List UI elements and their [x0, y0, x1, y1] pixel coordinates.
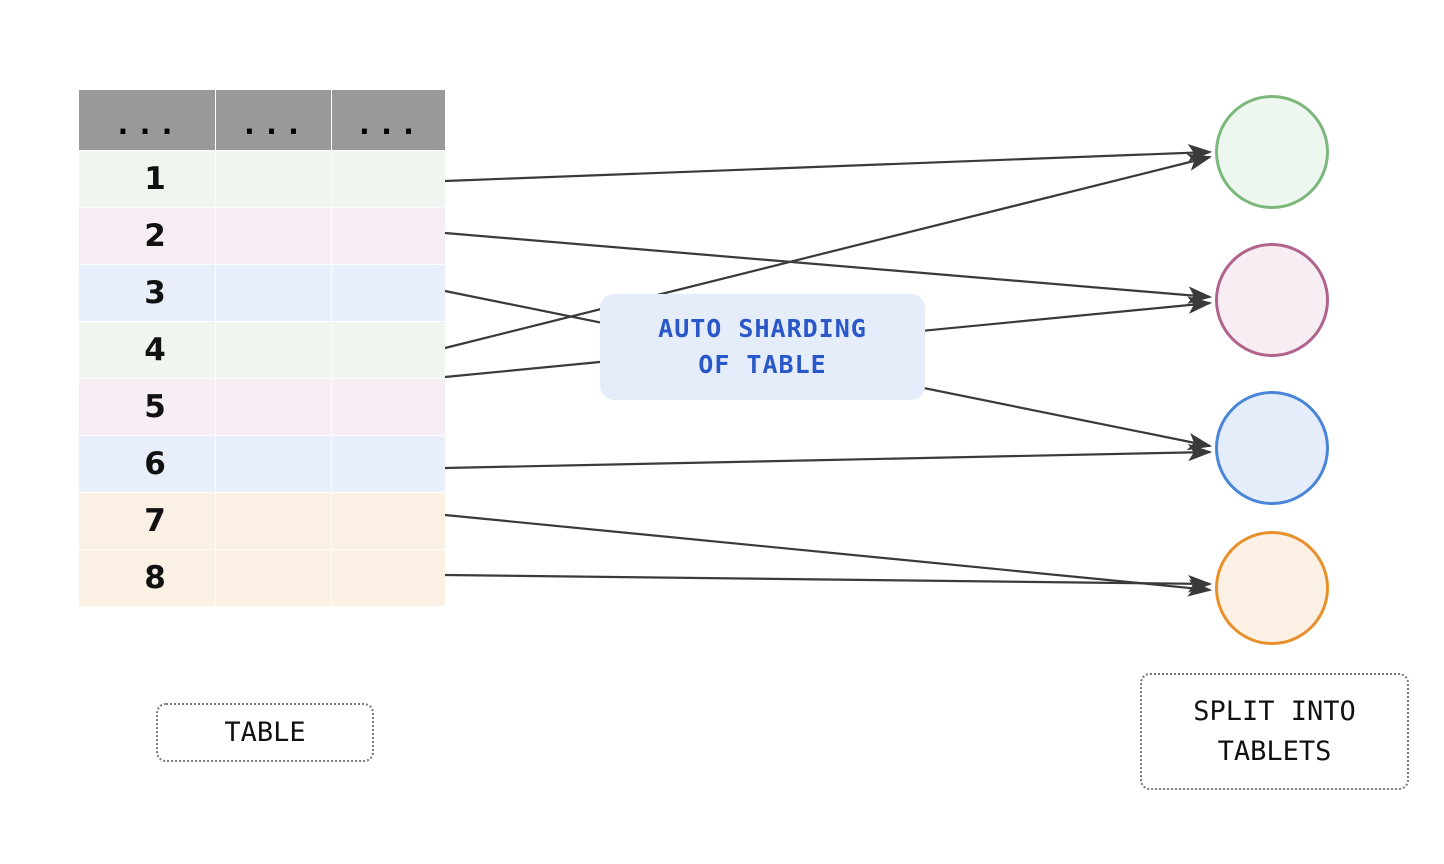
table-row: 5	[79, 379, 445, 435]
tablet-orange	[1215, 531, 1329, 645]
tablet-green	[1215, 95, 1329, 209]
row-data-cell	[216, 265, 331, 321]
row-data-cell	[216, 436, 331, 492]
legend-tablets-line-1: SPLIT INTO	[1193, 696, 1356, 727]
legend-table: TABLE	[156, 703, 374, 762]
row-id-cell: 1	[79, 151, 215, 207]
row-data-cell	[332, 436, 445, 492]
row-id-cell: 2	[79, 208, 215, 264]
row-data-cell	[216, 322, 331, 378]
connector-row-6-to-tablet-blue	[445, 452, 1210, 468]
header-cell-2: ...	[216, 90, 331, 150]
table-row: 3	[79, 265, 445, 321]
legend-tablets: SPLIT INTO TABLETS	[1140, 673, 1409, 790]
tablet-blue	[1215, 391, 1329, 505]
row-data-cell	[332, 265, 445, 321]
source-table: ... ... ... 12345678	[79, 90, 445, 606]
row-data-cell	[216, 493, 331, 549]
row-id-cell: 6	[79, 436, 215, 492]
table-row: 7	[79, 493, 445, 549]
table-row: 4	[79, 322, 445, 378]
callout-line-1: AUTO SHARDING	[658, 314, 867, 343]
table-header-row: ... ... ...	[79, 90, 445, 150]
connector-row-1-to-tablet-green	[445, 152, 1210, 181]
table-row: 2	[79, 208, 445, 264]
row-data-cell	[332, 550, 445, 606]
legend-tablets-line-2: TABLETS	[1218, 736, 1332, 767]
row-id-cell: 5	[79, 379, 215, 435]
row-data-cell	[216, 550, 331, 606]
connector-row-2-to-tablet-pink	[445, 233, 1210, 297]
table-row: 8	[79, 550, 445, 606]
row-data-cell	[216, 379, 331, 435]
callout-line-2: OF TABLE	[698, 350, 826, 379]
header-cell-3: ...	[332, 90, 445, 150]
row-data-cell	[332, 493, 445, 549]
row-data-cell	[216, 151, 331, 207]
row-id-cell: 7	[79, 493, 215, 549]
row-id-cell: 4	[79, 322, 215, 378]
row-data-cell	[332, 322, 445, 378]
row-data-cell	[216, 208, 331, 264]
tablet-pink	[1215, 243, 1329, 357]
table-row: 6	[79, 436, 445, 492]
table-row: 1	[79, 151, 445, 207]
auto-sharding-callout: AUTO SHARDING OF TABLE	[600, 294, 925, 400]
legend-table-label: TABLE	[224, 713, 305, 752]
row-data-cell	[332, 208, 445, 264]
row-data-cell	[332, 379, 445, 435]
row-data-cell	[332, 151, 445, 207]
diagram-canvas: ... ... ... 12345678 AUTO SHARDING OF TA…	[0, 0, 1444, 864]
header-cell-1: ...	[79, 90, 215, 150]
row-id-cell: 3	[79, 265, 215, 321]
row-id-cell: 8	[79, 550, 215, 606]
